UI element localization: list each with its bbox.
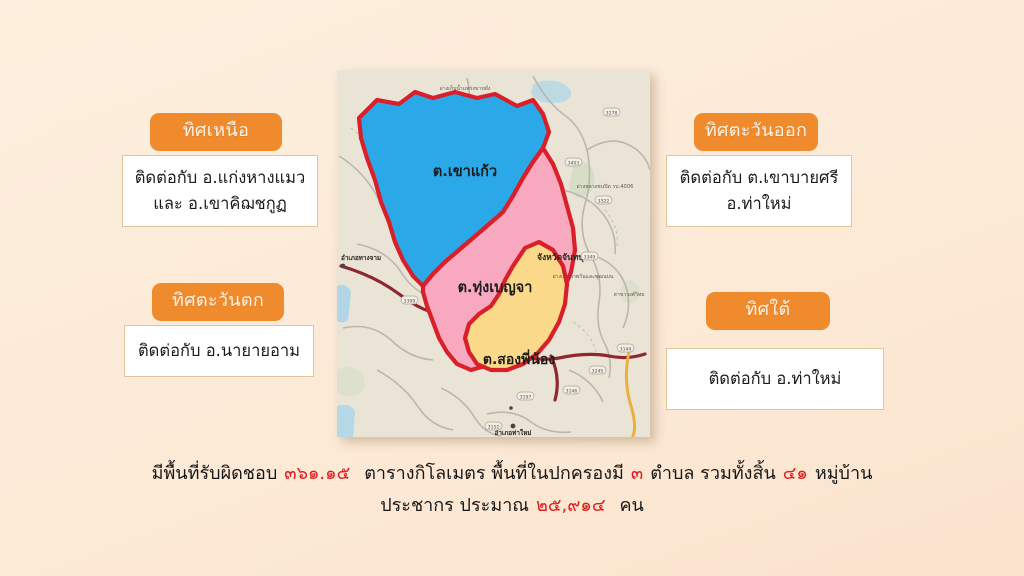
svg-text:อำเภอทางจาม: อำเภอทางจาม	[341, 254, 381, 262]
caption-line-1: มีพื้นที่รับผิดชอบ๓๖๑.๑๕ตารางกิโลเมตร พื…	[0, 458, 1024, 490]
svg-text:3245: 3245	[592, 368, 604, 374]
direction-box-east: ติดต่อกับ ต.เขาบายศรี อ.ท่าใหม่	[666, 155, 852, 227]
caption-line1-text-c: ตำบล รวมทั้งสิ้น	[650, 463, 776, 484]
svg-text:อ่างเก็บน้ำพวันและพุฒนบน: อ่างเก็บน้ำพวันและพุฒนบน	[553, 272, 614, 280]
svg-text:3197: 3197	[520, 394, 532, 400]
svg-text:3144: 3144	[620, 346, 632, 352]
map-region-label-khaokaeo: ต.เขาแก้ว	[433, 163, 497, 180]
direction-pill-west: ทิศตะวันตก	[152, 283, 284, 321]
slide-root: ทิศเหนือ ติดต่อกับ อ.แก่งหางแมว และ อ.เข…	[0, 0, 1024, 576]
caption-line2-text-a: ประชากร ประมาณ	[380, 495, 529, 516]
direction-box-south: ติดต่อกับ อ.ท่าใหม่	[666, 348, 884, 410]
caption-line1-text-b: ตารางกิโลเมตร พื้นที่ในปกครองมี	[364, 463, 624, 484]
svg-text:3278: 3278	[606, 110, 618, 116]
caption-subdistrict-count: ๓	[631, 463, 643, 484]
svg-text:3152: 3152	[488, 424, 500, 430]
svg-text:อ่างหลวงชนปิด รบ.4006: อ่างหลวงชนปิด รบ.4006	[577, 183, 634, 190]
svg-text:3399: 3399	[404, 298, 416, 304]
direction-north-line-2: และ อ.เขาคิฌชกูฏ	[153, 191, 287, 217]
direction-east-line-2: อ.ท่าใหม่	[726, 191, 791, 217]
caption-line2-text-b: คน	[619, 495, 643, 516]
caption-line-2: ประชากร ประมาณ๒๕,๙๑๔คน	[0, 490, 1024, 522]
caption-village-count: ๔๑	[783, 463, 808, 484]
svg-text:3146: 3146	[566, 388, 578, 394]
direction-pill-north: ทิศเหนือ	[150, 113, 282, 151]
caption-line1-text-a: มีพื้นที่รับผิดชอบ	[152, 463, 278, 484]
map-image: อ่างเก็บน้ำแพร่งขาหยั่ง อ่างหลวงชนปิด รบ…	[337, 70, 650, 437]
direction-east-line-1: ติดต่อกับ ต.เขาบายศรี	[680, 165, 839, 191]
svg-text:3322: 3322	[598, 198, 610, 204]
svg-text:สาขาวงศ์วิทย: สาขาวงศ์วิทย	[614, 291, 645, 298]
map-region-label-songphinong: ต.สองพี่น้อง	[483, 349, 555, 368]
direction-south-line-1: ติดต่อกับ อ.ท่าใหม่	[709, 366, 842, 392]
caption-line1-text-d: หมู่บ้าน	[815, 463, 873, 484]
caption-population-value: ๒๕,๙๑๔	[536, 495, 605, 516]
direction-pill-south: ทิศใต้	[706, 292, 830, 330]
map-panel: อ่างเก็บน้ำแพร่งขาหยั่ง อ่างหลวงชนปิด รบ…	[337, 70, 650, 437]
direction-box-west: ติดต่อกับ อ.นายายอาม	[124, 325, 314, 377]
direction-box-north: ติดต่อกับ อ.แก่งหางแมว และ อ.เขาคิฌชกูฏ	[122, 155, 318, 227]
direction-pill-east: ทิศตะวันออก	[694, 113, 818, 151]
direction-north-line-1: ติดต่อกับ อ.แก่งหางแมว	[135, 165, 306, 191]
svg-text:อ่างเก็บน้ำแพร่งขาหยั่ง: อ่างเก็บน้ำแพร่งขาหยั่ง	[440, 84, 491, 92]
svg-text:3349: 3349	[584, 254, 596, 260]
svg-text:3403: 3403	[568, 160, 580, 166]
direction-west-line-1: ติดต่อกับ อ.นายายอาม	[138, 338, 300, 364]
caption-area-value: ๓๖๑.๑๕	[284, 463, 350, 484]
summary-caption: มีพื้นที่รับผิดชอบ๓๖๑.๑๕ตารางกิโลเมตร พื…	[0, 458, 1024, 521]
map-region-label-thungbenja: ต.ทุ่งเบญจา	[458, 280, 533, 296]
